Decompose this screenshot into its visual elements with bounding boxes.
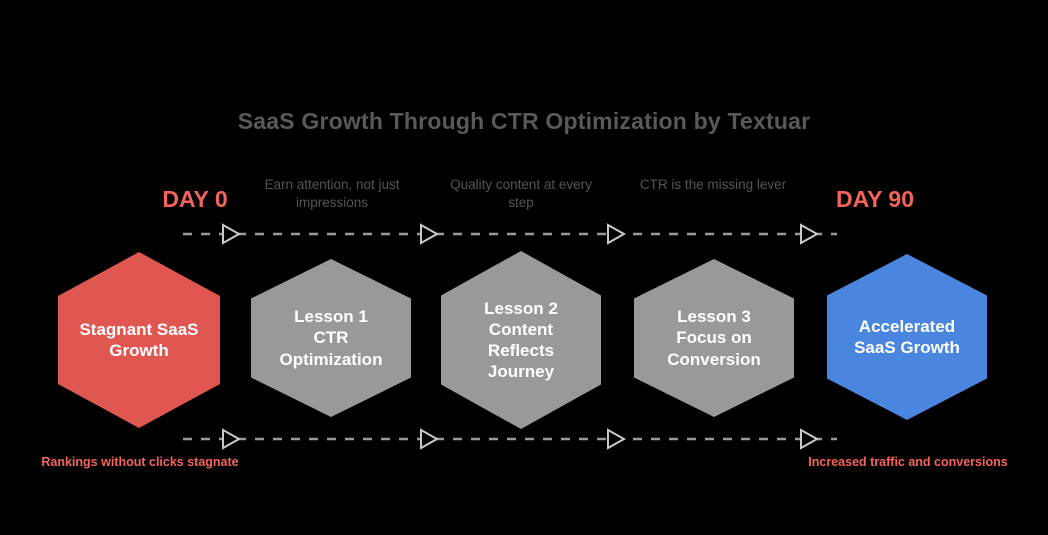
footnote-start: Rankings without clicks stagnate	[40, 454, 240, 471]
timeline-connector-top	[183, 223, 837, 245]
connector-arrow-line-top	[183, 223, 837, 245]
stage-label: Stagnant SaaS Growth	[71, 319, 206, 361]
arrowhead-icon	[801, 430, 817, 448]
diagram-canvas: SaaS Growth Through CTR Optimization by …	[0, 0, 1048, 535]
step-caption-3: CTR is the missing lever	[628, 176, 798, 194]
stage-node-stagnant-saas-growth[interactable]: Stagnant SaaS Growth	[58, 252, 220, 428]
arrowhead-icon	[608, 225, 624, 243]
step-caption-1: Earn attention, not just impressions	[247, 176, 417, 212]
connector-arrow-line-bottom	[183, 428, 837, 450]
arrowhead-icon	[421, 225, 437, 243]
step-caption-2: Quality content at every step	[436, 176, 606, 212]
arrowhead-icon	[223, 225, 239, 243]
stage-label: Lesson 3 Focus on Conversion	[659, 306, 769, 369]
stage-node-lesson-1[interactable]: Lesson 1 CTR Optimization	[251, 259, 411, 417]
page-title: SaaS Growth Through CTR Optimization by …	[0, 108, 1048, 135]
stage-node-lesson-3[interactable]: Lesson 3 Focus on Conversion	[634, 259, 794, 417]
stage-node-lesson-2[interactable]: Lesson 2 Content Reflects Journey	[441, 251, 601, 429]
stage-label: Lesson 2 Content Reflects Journey	[476, 298, 566, 382]
arrowhead-icon	[801, 225, 817, 243]
stage-label: Lesson 1 CTR Optimization	[272, 306, 391, 369]
timeline-connector-bottom	[183, 428, 837, 450]
timeline-end-label: DAY 90	[800, 186, 950, 213]
arrowhead-icon	[421, 430, 437, 448]
footnote-end: Increased traffic and conversions	[808, 454, 1008, 471]
stage-label: Accelerated SaaS Growth	[846, 316, 968, 358]
arrowhead-icon	[223, 430, 239, 448]
arrowhead-icon	[608, 430, 624, 448]
stage-node-accelerated-saas-growth[interactable]: Accelerated SaaS Growth	[827, 254, 987, 420]
